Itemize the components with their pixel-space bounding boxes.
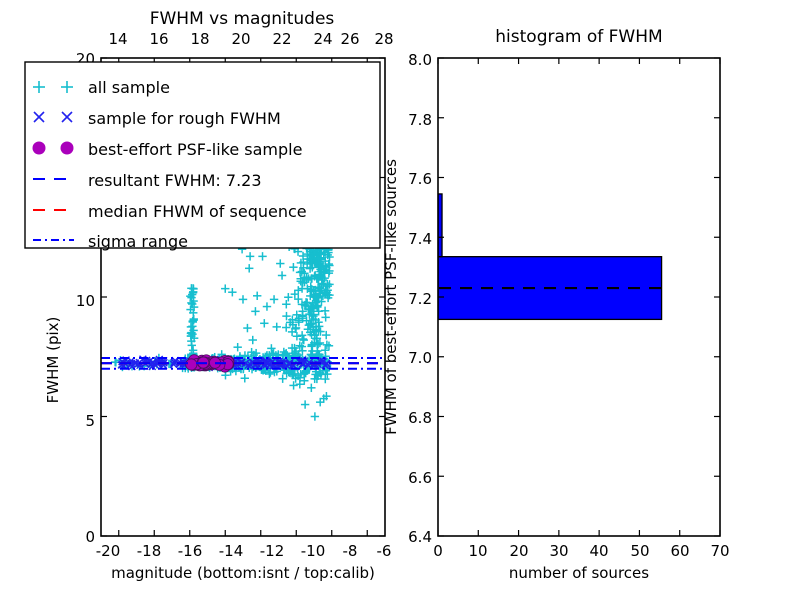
legend-label: all sample bbox=[88, 78, 170, 97]
y-tick-label: 8.0 bbox=[408, 51, 432, 69]
x-tick-label: 30 bbox=[549, 542, 568, 560]
top-tick-label: 22 bbox=[272, 30, 291, 48]
top-tick-label: 16 bbox=[149, 30, 168, 48]
y-tick-label: 7.4 bbox=[408, 230, 432, 248]
x-tick-label: -14 bbox=[219, 542, 244, 560]
x-tick-label: -20 bbox=[96, 542, 121, 560]
x-tick-label: -16 bbox=[178, 542, 203, 560]
legend-label: sample for rough FWHM bbox=[88, 109, 281, 128]
y-tick-label: 0 bbox=[85, 528, 95, 546]
left-panel-ylabel: FWHM (pix) bbox=[44, 317, 62, 404]
right-panel-ylabel: FWHM of best-effort PSF-like sources bbox=[382, 159, 400, 435]
y-tick-label: 10 bbox=[76, 292, 95, 310]
x-tick-label: -6 bbox=[377, 542, 392, 560]
figure-canvas: FWHM vs magnitudes 14 16 18 20 22 24 26 … bbox=[0, 0, 800, 600]
x-tick-label: 50 bbox=[630, 542, 649, 560]
y-tick-label: 7.0 bbox=[408, 349, 432, 367]
legend-label: median FHWM of sequence bbox=[88, 202, 307, 221]
legend-label: sigma range bbox=[88, 232, 188, 251]
x-tick-label: 20 bbox=[509, 542, 528, 560]
x-tick-label: -18 bbox=[137, 542, 162, 560]
x-tick-label: 70 bbox=[710, 542, 729, 560]
x-tick-label: 0 bbox=[433, 542, 443, 560]
right-panel-data bbox=[438, 194, 665, 319]
left-panel-title: FWHM vs magnitudes bbox=[150, 9, 335, 29]
x-tick-label: -8 bbox=[343, 542, 358, 560]
x-tick-label: 40 bbox=[589, 542, 608, 560]
right-panel-xlabel: number of sources bbox=[509, 564, 649, 582]
x-tick-label: 60 bbox=[670, 542, 689, 560]
right-panel: histogram of FWHM 6.4 6.6 6.8 7.0 7.2 7.… bbox=[382, 27, 730, 582]
left-panel-bottom-tick-labels: -20 -18 -16 -14 -12 -10 -8 -6 bbox=[96, 542, 392, 560]
y-tick-label: 5 bbox=[85, 412, 95, 430]
top-tick-label: 28 bbox=[374, 30, 393, 48]
left-panel-xlabel: magnitude (bottom:isnt / top:calib) bbox=[111, 564, 375, 582]
y-tick-label: 7.2 bbox=[408, 290, 432, 308]
y-tick-label: 6.8 bbox=[408, 409, 432, 427]
top-tick-label: 18 bbox=[190, 30, 209, 48]
y-tick-label: 7.8 bbox=[408, 111, 432, 129]
top-tick-label: 14 bbox=[108, 30, 127, 48]
legend-label: resultant FWHM: 7.23 bbox=[88, 171, 262, 190]
y-tick-label: 6.6 bbox=[408, 469, 432, 487]
legend-label: best-effort PSF-like sample bbox=[88, 140, 302, 159]
x-tick-label: 10 bbox=[468, 542, 487, 560]
right-panel-x-tick-labels: 0 10 20 30 40 50 60 70 bbox=[433, 542, 729, 560]
x-tick-label: -10 bbox=[301, 542, 326, 560]
y-tick-label: 7.6 bbox=[408, 170, 432, 188]
y-tick-label: 6.4 bbox=[408, 528, 432, 546]
right-panel-title: histogram of FWHM bbox=[495, 27, 662, 47]
right-panel-y-tick-labels: 6.4 6.6 6.8 7.0 7.2 7.4 7.6 7.8 8.0 bbox=[408, 51, 432, 546]
top-tick-label: 26 bbox=[340, 30, 359, 48]
top-tick-label: 20 bbox=[231, 30, 250, 48]
legend[interactable]: all sample sample for rough FWHM best-ef… bbox=[25, 62, 380, 251]
series-psf-like-sample bbox=[186, 355, 234, 373]
left-panel-top-tick-labels: 14 16 18 20 22 24 26 28 bbox=[108, 30, 393, 48]
histogram-bars bbox=[438, 194, 662, 319]
x-tick-label: -12 bbox=[260, 542, 285, 560]
top-tick-label: 24 bbox=[313, 30, 332, 48]
